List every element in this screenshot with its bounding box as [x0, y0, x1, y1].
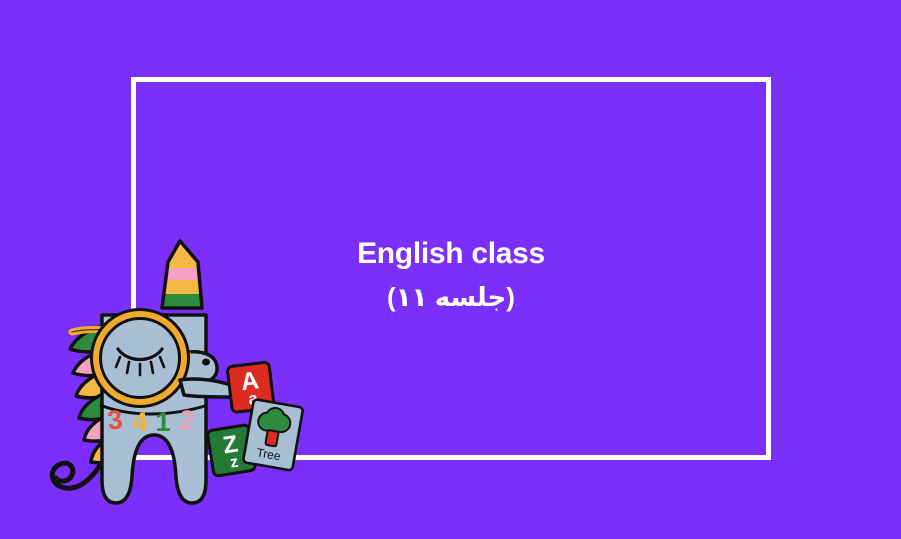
belt-number-2: 2: [178, 404, 196, 435]
belt-number-3: 3: [106, 404, 124, 435]
slide-canvas: English class (جلسه ۱۱): [0, 0, 901, 539]
belt-number-1: 1: [155, 407, 170, 437]
tree-flashcard[interactable]: Tree: [243, 399, 303, 471]
unicorn-teacher-illustration: 3 4 1 2 A a Z z: [30, 245, 330, 539]
belt-number-4: 4: [132, 407, 147, 437]
unicorn-horn-icon: [150, 235, 220, 319]
